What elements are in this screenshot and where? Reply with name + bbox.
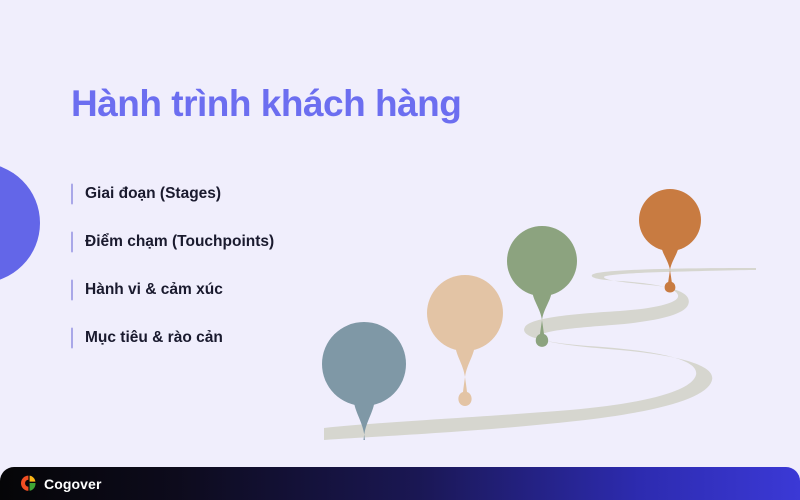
- bullet-tick-icon: [71, 328, 73, 349]
- brand-logo: Cogover: [20, 475, 102, 492]
- list-item-label: Hành vi & cảm xúc: [85, 281, 223, 299]
- bullet-tick-icon: [71, 184, 73, 205]
- decorative-circle: [0, 163, 40, 283]
- brand-name: Cogover: [44, 476, 102, 492]
- slide-canvas: Hành trình khách hàng Giai đoạn (Stages)…: [0, 0, 800, 500]
- list-item-label: Mục tiêu & rào cản: [85, 329, 223, 347]
- page-title: Hành trình khách hàng: [71, 83, 461, 125]
- journey-illustration: [320, 130, 800, 440]
- map-pin-terracotta: [639, 189, 701, 293]
- footer-bar: Cogover: [0, 467, 800, 500]
- list-item-label: Điểm chạm (Touchpoints): [85, 233, 274, 251]
- bullet-tick-icon: [71, 280, 73, 301]
- map-pin-peach: [427, 275, 503, 406]
- list-item-label: Giai đoạn (Stages): [85, 185, 221, 203]
- cogover-logo-icon: [20, 475, 36, 492]
- bullet-tick-icon: [71, 232, 73, 253]
